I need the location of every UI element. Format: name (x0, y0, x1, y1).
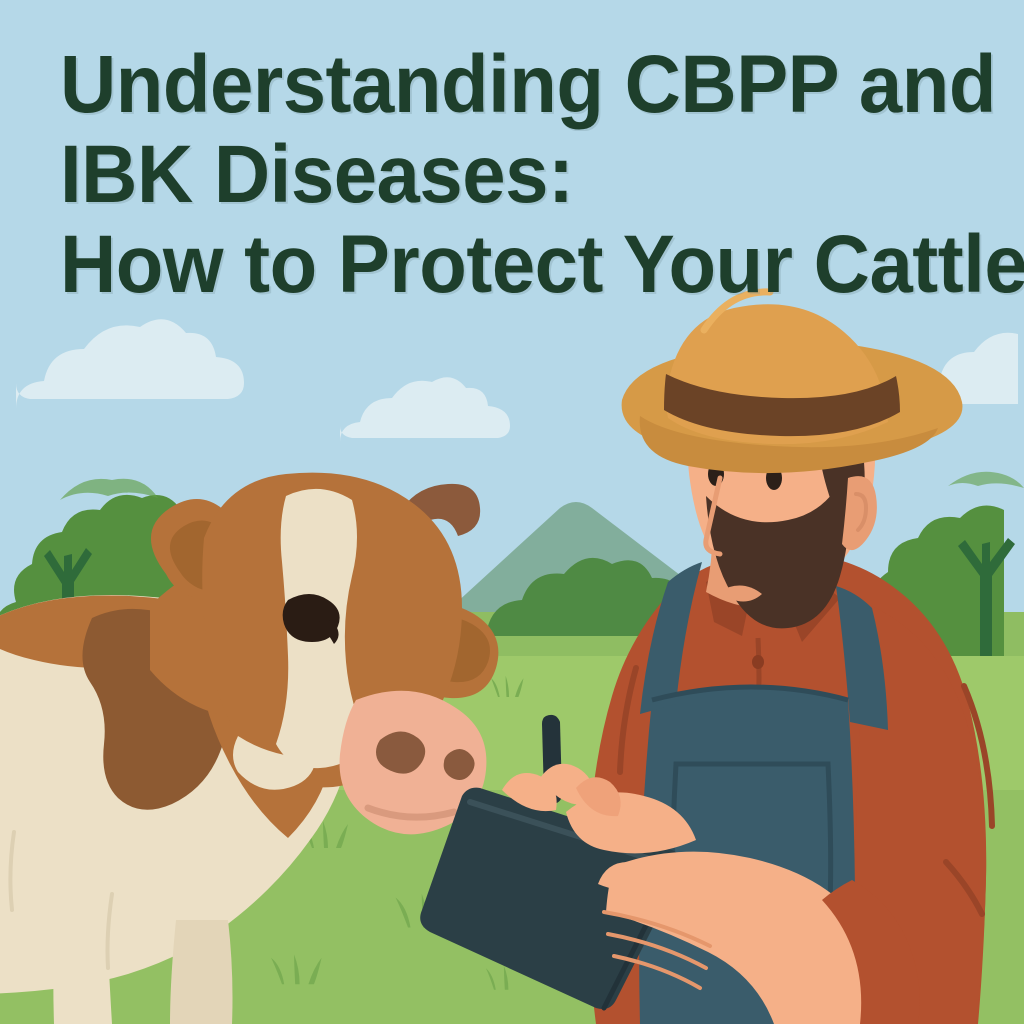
farmer-shirt-button (752, 655, 764, 669)
cow-leg-front (53, 900, 112, 1024)
cow-leg-rear (170, 920, 233, 1024)
scene-illustration (0, 0, 1024, 1024)
illustration-canvas: Understanding CBPP and IBK Diseases: How… (0, 0, 1024, 1024)
